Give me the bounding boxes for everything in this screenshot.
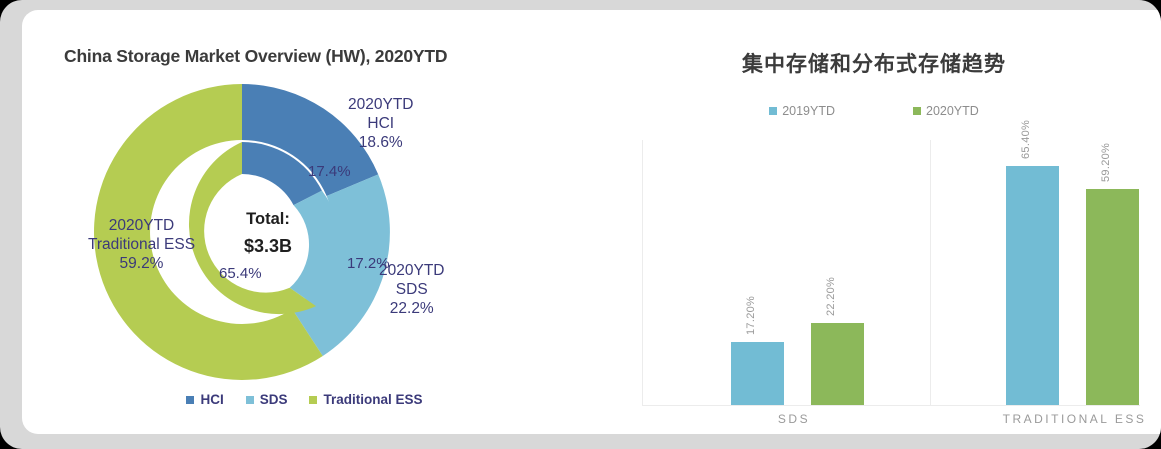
donut-label-ess-value: 59.2% xyxy=(64,254,219,273)
donut-legend-label-sds: SDS xyxy=(260,392,288,407)
donut-legend-swatch-sds xyxy=(246,396,254,404)
outer-frame: China Storage Market Overview (HW), 2020… xyxy=(0,0,1161,449)
donut-center-total: Total: $3.3B xyxy=(208,206,328,260)
bar-legend: 2019YTD 2020YTD xyxy=(587,104,1161,118)
donut-label-hci-line1: 2020YTD xyxy=(348,95,413,114)
y-axis-line xyxy=(642,140,643,406)
bar-value-traditional-ess-2020ytd: 59.20% xyxy=(1100,143,1112,182)
bar-traditional-ess-2020ytd[interactable] xyxy=(1086,189,1139,405)
donut-label-hci-line2: HCI xyxy=(348,114,413,133)
donut-center-value: $3.3B xyxy=(208,233,328,260)
donut-legend-item-hci[interactable]: HCI xyxy=(186,392,223,407)
bar-sds-2019ytd[interactable] xyxy=(731,342,784,405)
donut-chart-title: China Storage Market Overview (HW), 2020… xyxy=(64,46,447,67)
bar-value-sds-2019ytd: 17.20% xyxy=(745,296,757,335)
donut-center-label: Total: xyxy=(208,206,328,233)
donut-inner-value-sds: 17.2% xyxy=(347,255,390,272)
bar-legend-item-2020ytd[interactable]: 2020YTD xyxy=(913,104,979,118)
bar-chart-title: 集中存储和分布式存储趋势 xyxy=(587,48,1161,78)
category-divider xyxy=(930,140,931,405)
donut-label-sds-value: 22.2% xyxy=(379,299,444,318)
bar-legend-item-2019ytd[interactable]: 2019YTD xyxy=(769,104,835,118)
donut-inner-value-traditional-ess: 65.4% xyxy=(219,265,262,282)
donut-legend-label-hci: HCI xyxy=(200,392,223,407)
bar-legend-label-2019ytd: 2019YTD xyxy=(782,104,835,118)
bar-legend-swatch-2020ytd xyxy=(913,107,921,115)
donut-label-ess-line2: Traditional ESS xyxy=(64,235,219,254)
bar-value-sds-2020ytd: 22.20% xyxy=(825,277,837,316)
donut-legend-swatch-traditional-ess xyxy=(309,396,317,404)
bar-category-label-sds: SDS xyxy=(734,412,854,426)
bar-legend-swatch-2019ytd xyxy=(769,107,777,115)
donut-legend-label-traditional-ess: Traditional ESS xyxy=(323,392,422,407)
donut-legend-swatch-hci xyxy=(186,396,194,404)
donut-label-hci: 2020YTD HCI 18.6% xyxy=(348,95,413,152)
donut-legend-item-sds[interactable]: SDS xyxy=(246,392,288,407)
x-axis-baseline xyxy=(642,405,1140,406)
bar-category-label-traditional-ess: TRADITIONAL ESS xyxy=(1002,412,1147,426)
bar-plot-area: 17.20% 22.20% SDS 65.40% 59.20% TRADITIO… xyxy=(642,140,1140,406)
donut-chart-panel: China Storage Market Overview (HW), 2020… xyxy=(22,10,587,434)
bar-value-traditional-ess-2019ytd: 65.40% xyxy=(1020,120,1032,159)
donut-label-hci-value: 18.6% xyxy=(348,133,413,152)
donut-label-traditional-ess: 2020YTD Traditional ESS 59.2% xyxy=(64,216,219,273)
slide-card: China Storage Market Overview (HW), 2020… xyxy=(22,10,1161,434)
bar-sds-2020ytd[interactable] xyxy=(811,323,864,405)
bar-traditional-ess-2019ytd[interactable] xyxy=(1006,166,1059,405)
donut-inner-value-hci: 17.4% xyxy=(308,163,351,180)
donut-legend: HCI SDS Traditional ESS xyxy=(22,392,587,407)
donut-label-ess-line1: 2020YTD xyxy=(64,216,219,235)
bar-legend-label-2020ytd: 2020YTD xyxy=(926,104,979,118)
donut-label-sds-line2: SDS xyxy=(379,280,444,299)
bar-chart-panel: 集中存储和分布式存储趋势 2019YTD 2020YTD 17.20% xyxy=(587,10,1161,434)
donut-legend-item-traditional-ess[interactable]: Traditional ESS xyxy=(309,392,422,407)
